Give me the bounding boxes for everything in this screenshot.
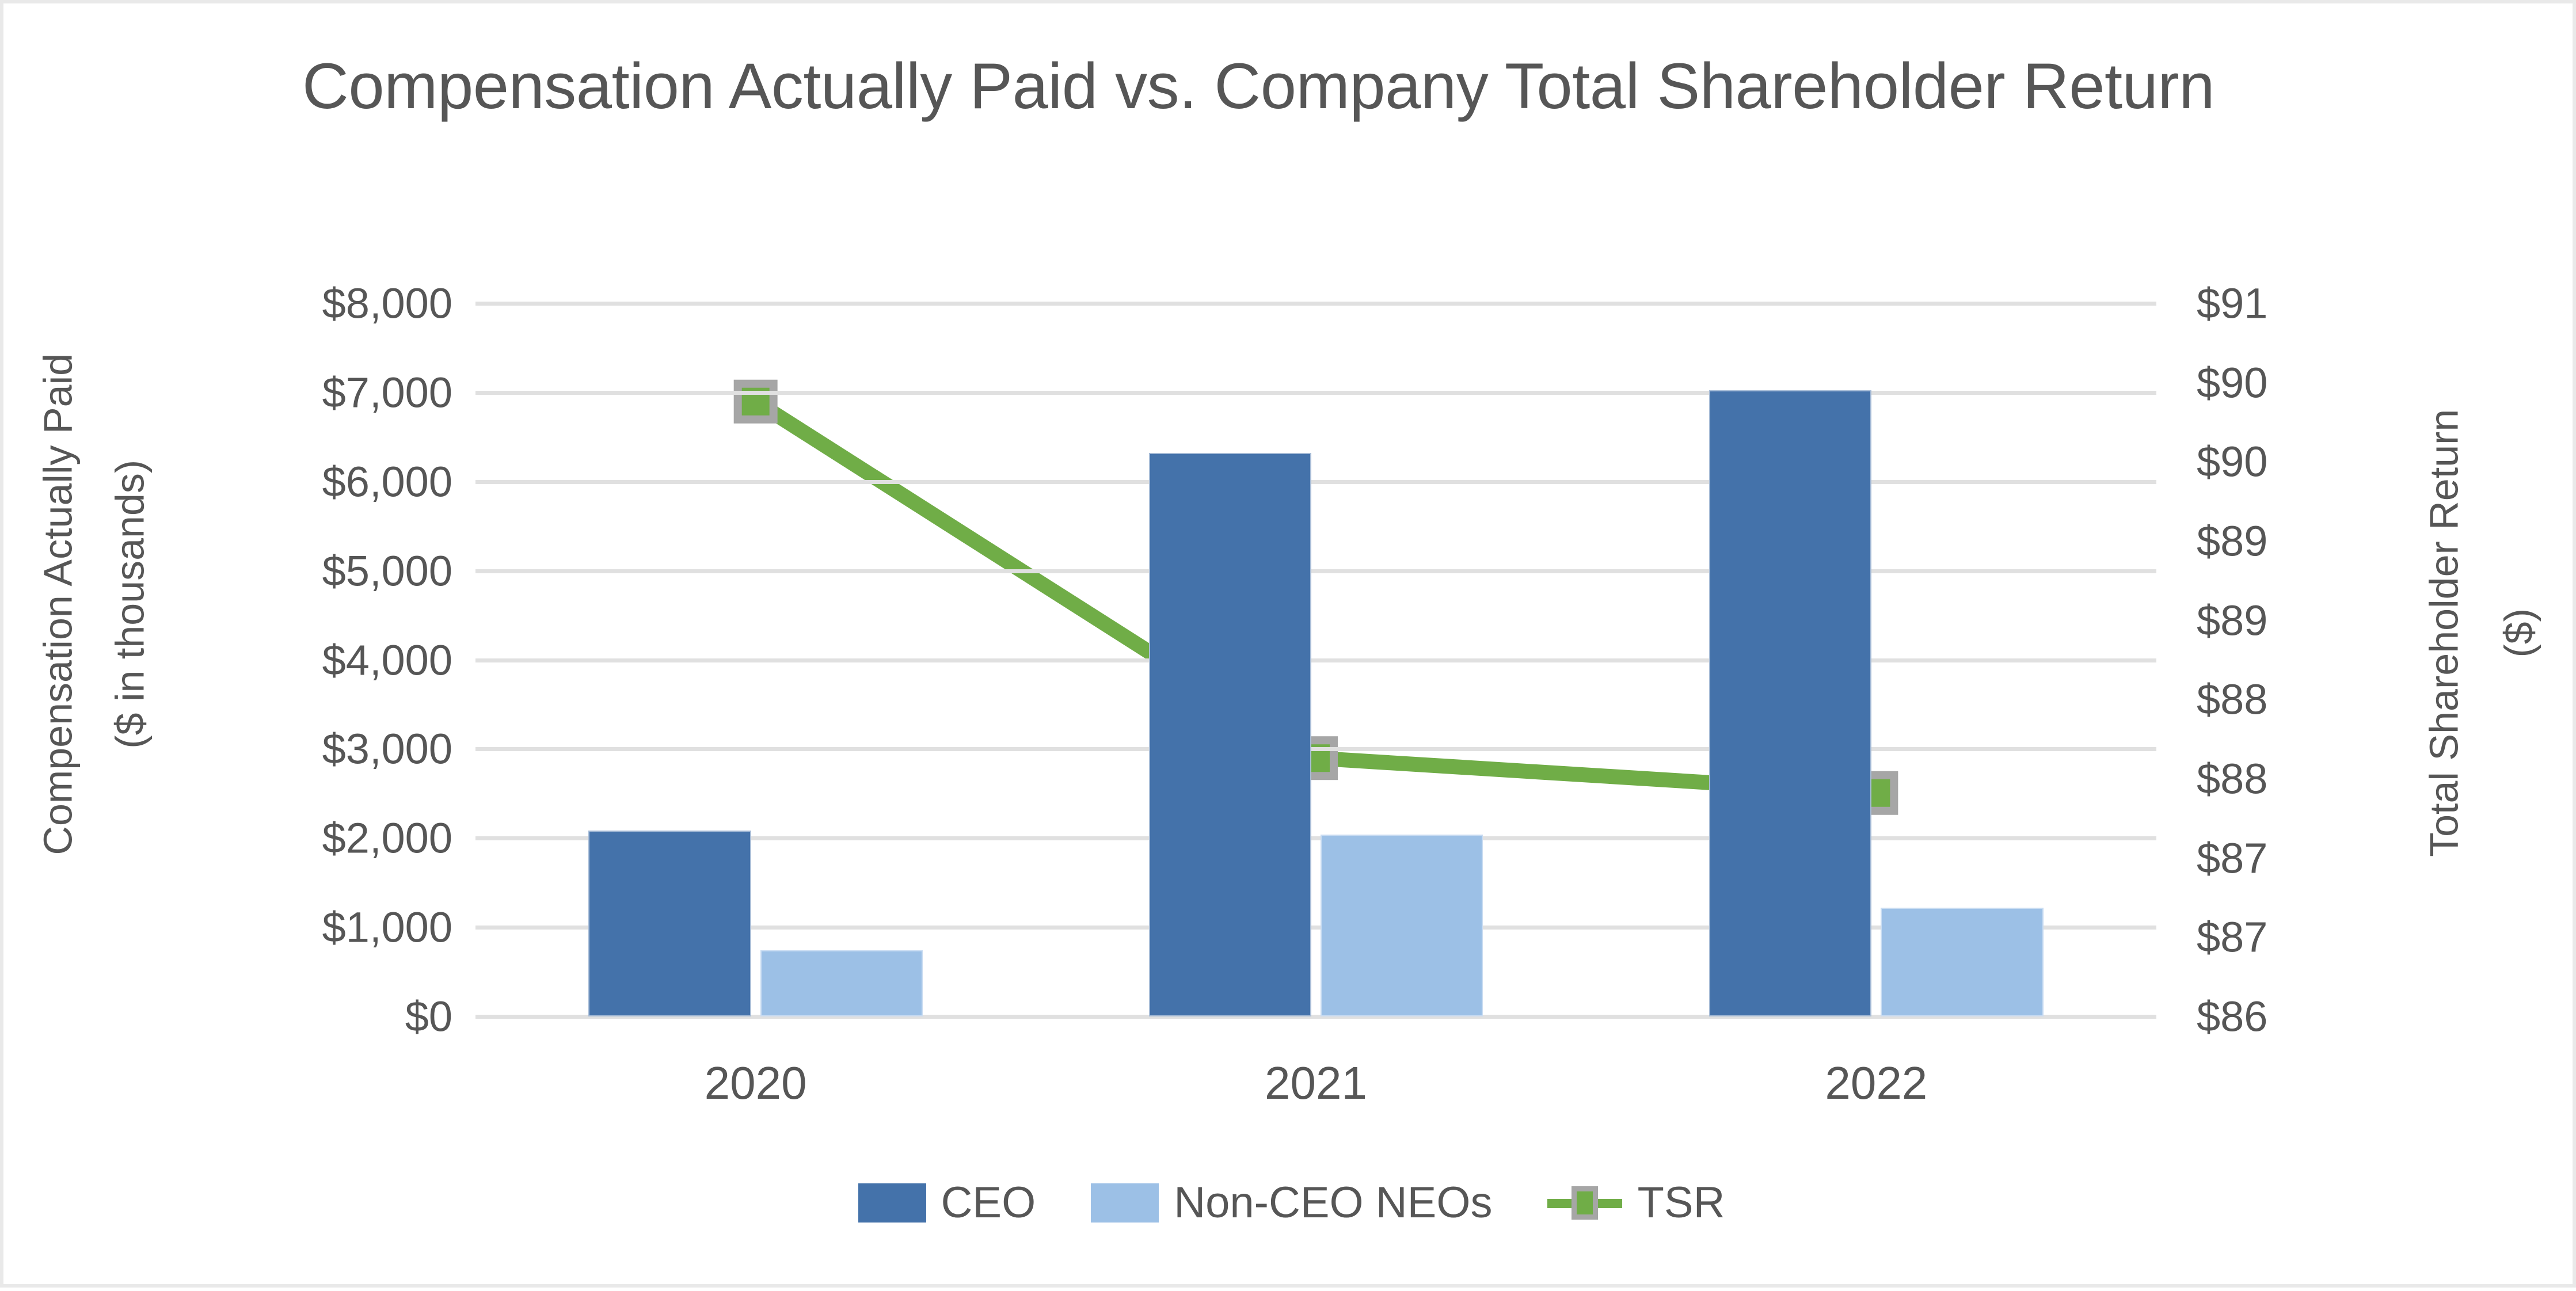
y-axis-left-tick-label: $3,000 <box>322 725 452 774</box>
y-axis-left-tick-label: $4,000 <box>322 635 452 684</box>
legend-swatch-icon <box>1091 1183 1159 1223</box>
y-axis-right-tick-label: $90 <box>2197 437 2267 486</box>
y-axis-left-tick-label: $1,000 <box>322 903 452 952</box>
y-axis-left-tick-label: $2,000 <box>322 814 452 863</box>
y-axis-right-tick-label: $91 <box>2197 279 2267 328</box>
y-axis-right-title-line2: ($) <box>2494 374 2544 892</box>
y-axis-right-ticks: $91$90$90$89$89$88$88$87$87$86 <box>2197 3 2387 1291</box>
chart-frame: Compensation Actually Paid vs. Company T… <box>0 0 2576 1288</box>
bar-ceo[interactable] <box>1149 453 1311 1016</box>
tsr-line <box>756 402 1877 793</box>
y-axis-right-tick-label: $87 <box>2197 833 2267 882</box>
bar-non-ceo-neos[interactable] <box>1881 908 2043 1016</box>
legend-swatch-icon <box>858 1183 926 1223</box>
y-axis-left-ticks: $8,000$7,000$6,000$5,000$4,000$3,000$2,0… <box>234 3 452 1291</box>
legend-label: TSR <box>1637 1178 1725 1228</box>
gridline <box>475 569 2156 573</box>
legend-item[interactable]: Non-CEO NEOs <box>1091 1178 1492 1228</box>
x-axis-ticks: 202020212022 <box>475 1057 2156 1126</box>
y-axis-left-title-line1: Compensation Actually Paid <box>33 345 83 863</box>
y-axis-right-tick-label: $89 <box>2197 596 2267 645</box>
y-axis-left-tick-label: $5,000 <box>322 546 452 595</box>
plot-area <box>475 303 2156 1016</box>
legend-line-marker-icon <box>1547 1183 1622 1223</box>
bar-ceo[interactable] <box>1709 390 1871 1016</box>
gridline <box>475 391 2156 395</box>
y-axis-left-tick-label: $8,000 <box>322 279 452 328</box>
chart-title: Compensation Actually Paid vs. Company T… <box>280 44 2237 129</box>
tsr-marker[interactable] <box>738 384 774 420</box>
legend-item[interactable]: CEO <box>858 1178 1036 1228</box>
chart-legend: CEONon-CEO NEOsTSR <box>3 1178 2576 1228</box>
y-axis-right-tick-label: $88 <box>2197 755 2267 803</box>
y-axis-right-tick-label: $89 <box>2197 517 2267 566</box>
y-axis-right-tick-label: $88 <box>2197 675 2267 724</box>
y-axis-right-tick-label: $90 <box>2197 358 2267 407</box>
y-axis-left-tick-label: $0 <box>405 992 452 1041</box>
y-axis-left-tick-label: $6,000 <box>322 457 452 506</box>
y-axis-left-title-line2: ($ in thousands) <box>105 345 155 863</box>
gridline <box>475 302 2156 306</box>
y-axis-right-title-line1: Total Shareholder Return <box>2419 374 2470 892</box>
legend-item[interactable]: TSR <box>1547 1178 1725 1228</box>
bar-non-ceo-neos[interactable] <box>1321 835 1483 1016</box>
y-axis-left-tick-label: $7,000 <box>322 368 452 417</box>
x-axis-tick-label: 2021 <box>1036 1057 1596 1126</box>
y-axis-right-tick-label: $87 <box>2197 913 2267 962</box>
legend-label: CEO <box>941 1178 1036 1228</box>
bar-ceo[interactable] <box>588 831 751 1016</box>
x-axis-tick-label: 2022 <box>1596 1057 2156 1126</box>
gridline <box>475 658 2156 662</box>
gridline <box>475 480 2156 484</box>
x-axis-tick-label: 2020 <box>475 1057 1036 1126</box>
gridline <box>475 747 2156 751</box>
y-axis-right-tick-label: $86 <box>2197 992 2267 1041</box>
legend-label: Non-CEO NEOs <box>1174 1178 1492 1228</box>
bar-non-ceo-neos[interactable] <box>760 950 923 1016</box>
